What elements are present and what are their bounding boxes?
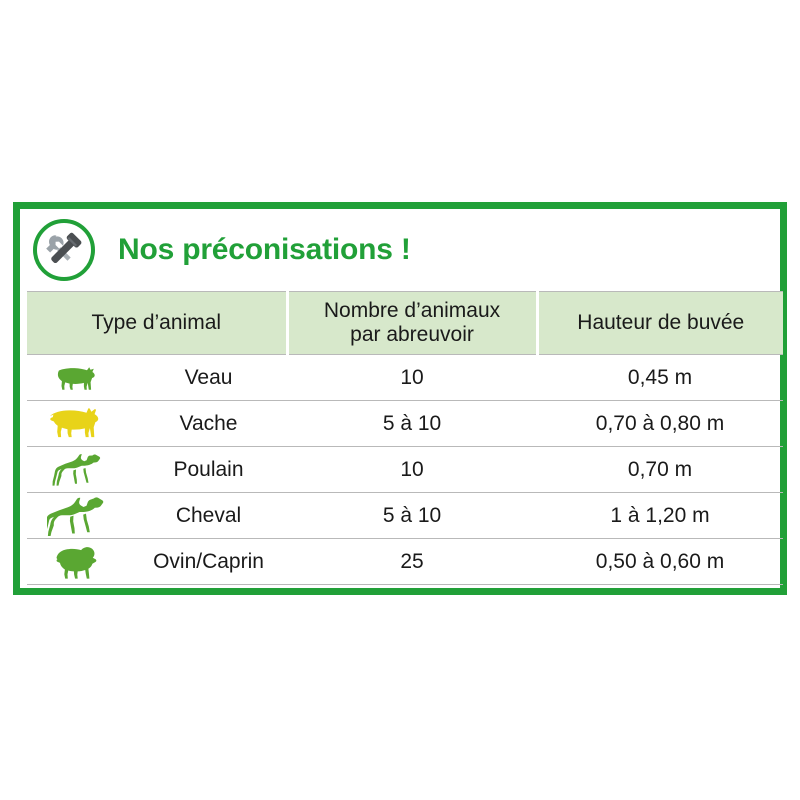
cell-height: 1 à 1,20 m (537, 493, 783, 539)
column-header-count: Nombre d’animaux par abreuvoir (287, 292, 537, 355)
table-row: Vache 5 à 10 0,70 à 0,80 m (27, 401, 783, 447)
table-body: Veau 10 0,45 m Vache 5 à 10 (27, 355, 783, 585)
table-row: Cheval 5 à 10 1 à 1,20 m (27, 493, 783, 539)
horse-icon (27, 493, 130, 539)
cell-count: 5 à 10 (287, 493, 537, 539)
cell-type: Ovin/Caprin (130, 539, 287, 585)
recommendations-card: Nos préconisations ! Type d’animal Nombr… (13, 202, 787, 595)
cell-count: 10 (287, 355, 537, 401)
table-row: Ovin/Caprin 25 0,50 à 0,60 m (27, 539, 783, 585)
horse-glyph (47, 496, 111, 536)
calf-glyph (49, 361, 109, 395)
cow-glyph (45, 404, 113, 444)
cell-type: Cheval (130, 493, 287, 539)
table-row: Veau 10 0,45 m (27, 355, 783, 401)
cell-height: 0,50 à 0,60 m (537, 539, 783, 585)
cow-icon (27, 401, 130, 447)
cell-type: Veau (130, 355, 287, 401)
card-header: Nos préconisations ! (20, 209, 780, 291)
cell-height: 0,70 à 0,80 m (537, 401, 783, 447)
wrench-screwdriver-glyph (42, 228, 86, 272)
sheep-glyph (48, 544, 110, 580)
column-header-count-line1: Nombre d’animaux (324, 299, 500, 322)
calf-icon (27, 355, 130, 401)
column-header-height: Hauteur de buvée (537, 292, 783, 355)
page-root: Nos préconisations ! Type d’animal Nombr… (0, 0, 800, 800)
table-header-row: Type d’animal Nombre d’animaux par abreu… (27, 292, 783, 355)
cell-count: 5 à 10 (287, 401, 537, 447)
column-header-type: Type d’animal (27, 292, 287, 355)
table-header: Type d’animal Nombre d’animaux par abreu… (27, 292, 783, 355)
cell-height: 0,70 m (537, 447, 783, 493)
cell-count: 25 (287, 539, 537, 585)
cell-type: Poulain (130, 447, 287, 493)
sheep-icon (27, 539, 130, 585)
cell-height: 0,45 m (537, 355, 783, 401)
wrench-screwdriver-icon (33, 219, 95, 281)
page-title: Nos préconisations ! (118, 233, 411, 267)
column-header-count-line2: par abreuvoir (350, 323, 474, 346)
table-row: Poulain 10 0,70 m (27, 447, 783, 493)
foal-icon (27, 447, 130, 493)
foal-glyph (52, 452, 106, 488)
recommendations-table: Type d’animal Nombre d’animaux par abreu… (27, 291, 783, 585)
cell-type: Vache (130, 401, 287, 447)
cell-count: 10 (287, 447, 537, 493)
